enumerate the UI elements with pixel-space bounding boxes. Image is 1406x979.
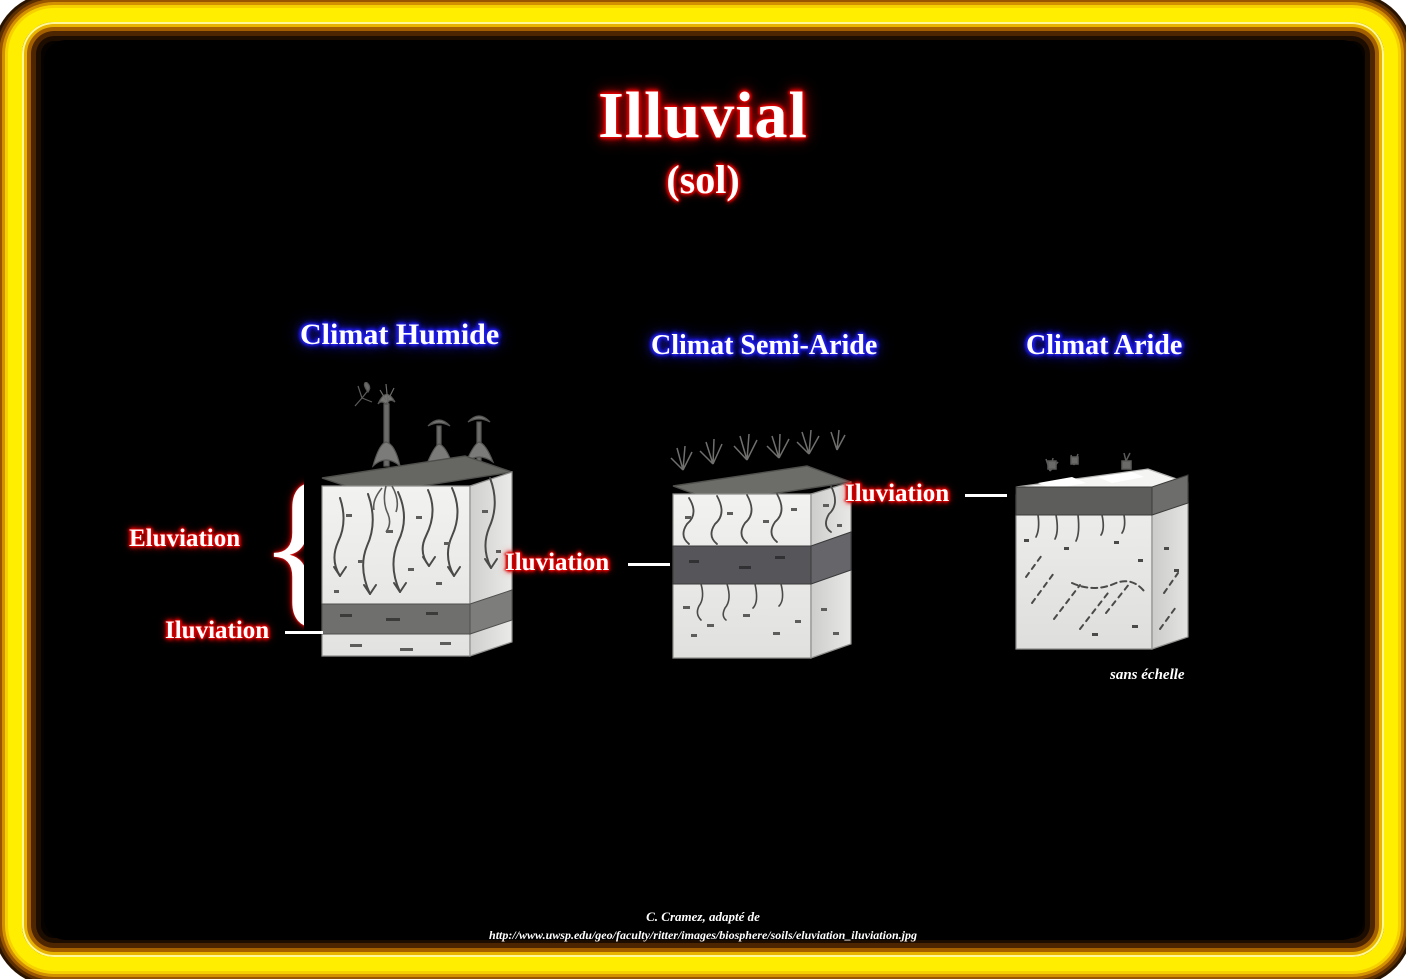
heading-climat-humide: Climat Humide (300, 318, 499, 352)
page-title: Illuvial (0, 78, 1406, 154)
credit-author: C. Cramez, adapté de (0, 908, 1406, 927)
leader-line-iluviation-semi-arid (628, 563, 670, 566)
tree-group (355, 382, 493, 466)
soil-block-humid (300, 382, 530, 667)
sparse-shrubs (1046, 453, 1131, 471)
credits-block: C. Cramez, adapté de http://www.uwsp.edu… (0, 908, 1406, 944)
heading-climat-aride: Climat Aride (1026, 330, 1182, 362)
grass-tufts (671, 430, 845, 470)
eluviation-brace: { (258, 470, 304, 630)
slide-canvas: Illuvial (sol) Climat Humide Climat Semi… (0, 0, 1406, 979)
leader-line-iluviation-humid (285, 631, 323, 634)
illuvial-band-front (673, 546, 811, 584)
illuvial-band-front (1016, 487, 1152, 515)
heading-climat-semi-aride: Climat Semi-Aride (651, 330, 877, 362)
label-iluviation-humid: Iluviation (165, 617, 269, 645)
page-subtitle: (sol) (0, 156, 1406, 203)
credit-source-url: http://www.uwsp.edu/geo/faculty/ritter/i… (0, 927, 1406, 944)
label-eluviation-humid: Eluviation (129, 525, 240, 553)
scale-note: sans échelle (1110, 667, 1185, 684)
soil-block-semi-arid (655, 428, 865, 668)
soil-block-arid (1002, 443, 1202, 658)
label-iluviation-arid: Iluviation (845, 480, 949, 508)
leader-line-iluviation-arid (965, 494, 1007, 497)
label-iluviation-semi-arid: Iluviation (505, 549, 609, 577)
